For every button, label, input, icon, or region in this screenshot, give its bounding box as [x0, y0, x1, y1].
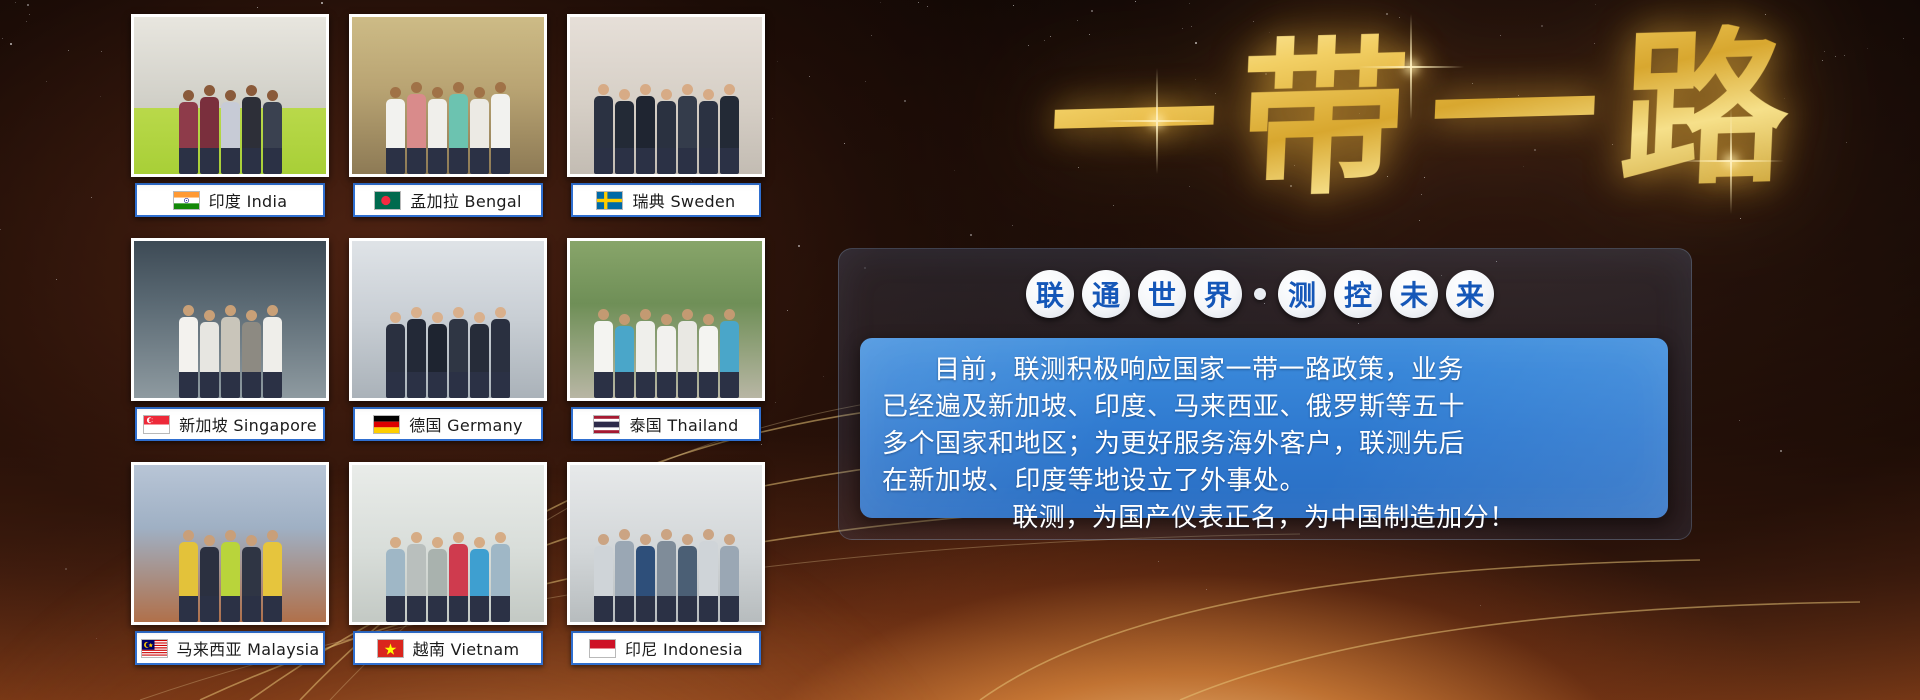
country-caption: 马来西亚 Malaysia [135, 631, 325, 665]
country-photo [567, 462, 765, 625]
country-photo [567, 14, 765, 177]
country-photo [349, 462, 547, 625]
country-label: 泰国 Thailand [629, 412, 738, 436]
flag-bangladesh-icon [374, 191, 401, 210]
country-caption: 瑞典 Sweden [571, 183, 761, 217]
country-label: 印尼 Indonesia [625, 636, 743, 660]
sparkle-center-icon [1410, 66, 1412, 68]
flag-indonesia-icon [589, 639, 616, 658]
sparkle-left-icon [1156, 120, 1158, 122]
country-card-indonesia[interactable]: 印尼 Indonesia [568, 462, 764, 676]
country-label: 新加坡 Singapore [179, 412, 317, 436]
country-photo-grid: 印度 India孟加拉 Bengal瑞典 Sweden新加坡 Singapore… [132, 14, 764, 686]
country-caption: 德国 Germany [353, 407, 543, 441]
slogan-bead-2: 世 [1138, 270, 1186, 318]
country-label: 孟加拉 Bengal [410, 188, 521, 212]
slogan-bead-8: 来 [1446, 270, 1494, 318]
description-line-3: 多个国家和地区；为更好服务海外客户，联测先后 [882, 426, 1646, 463]
country-caption: 越南 Vietnam [353, 631, 543, 665]
calligraphy-title: 一带一路 [1030, 8, 1830, 223]
country-card-germany[interactable]: 德国 Germany [350, 238, 546, 452]
flag-malaysia-icon [141, 639, 168, 658]
country-card-malaysia[interactable]: 马来西亚 Malaysia [132, 462, 328, 676]
sparkle-right-icon [1730, 160, 1732, 162]
description-line-4: 在新加坡、印度等地设立了外事处。 [882, 463, 1646, 500]
slogan-bead-6: 控 [1334, 270, 1382, 318]
flag-india-icon [173, 191, 200, 210]
calligraphy-text: 一带一路 [1046, 22, 1814, 210]
country-caption: 孟加拉 Bengal [353, 183, 543, 217]
flag-germany-icon [373, 415, 400, 434]
slogan-bead-7: 未 [1390, 270, 1438, 318]
description-line-5: 联测，为国产仪表正名，为中国制造加分！ [882, 500, 1646, 537]
banner-stage: 印度 India孟加拉 Bengal瑞典 Sweden新加坡 Singapore… [0, 0, 1920, 700]
country-photo [349, 14, 547, 177]
country-card-bengal[interactable]: 孟加拉 Bengal [350, 14, 546, 228]
right-content: 一带一路 联通世界测控未来 目前，联测积极响应国家一带一路政策，业务 已经遍及新… [1010, 0, 1920, 700]
country-label: 马来西亚 Malaysia [177, 636, 320, 660]
country-card-sweden[interactable]: 瑞典 Sweden [568, 14, 764, 228]
slogan-bead-3: 界 [1194, 270, 1242, 318]
flag-thailand-icon [593, 415, 620, 434]
country-photo [131, 14, 329, 177]
country-card-thailand[interactable]: 泰国 Thailand [568, 238, 764, 452]
country-label: 德国 Germany [409, 412, 523, 436]
country-photo [131, 462, 329, 625]
country-photo [349, 238, 547, 401]
country-label: 印度 India [209, 188, 288, 212]
slogan-bead-1: 通 [1082, 270, 1130, 318]
country-caption: 新加坡 Singapore [135, 407, 325, 441]
country-photo [567, 238, 765, 401]
description-line-1: 目前，联测积极响应国家一带一路政策，业务 [882, 352, 1646, 389]
country-card-singapore[interactable]: 新加坡 Singapore [132, 238, 328, 452]
country-caption: 印度 India [135, 183, 325, 217]
slogan-bead-5: 测 [1278, 270, 1326, 318]
slogan-bead-0: 联 [1026, 270, 1074, 318]
description-line-2: 已经遍及新加坡、印度、马来西亚、俄罗斯等五十 [882, 389, 1646, 426]
slogan-beads: 联通世界测控未来 [860, 264, 1660, 324]
flag-singapore-icon [143, 415, 170, 434]
flag-sweden-icon [596, 191, 623, 210]
country-card-india[interactable]: 印度 India [132, 14, 328, 228]
country-photo [131, 238, 329, 401]
country-card-vietnam[interactable]: 越南 Vietnam [350, 462, 546, 676]
description-box: 目前，联测积极响应国家一带一路政策，业务 已经遍及新加坡、印度、马来西亚、俄罗斯… [860, 338, 1668, 518]
country-caption: 印尼 Indonesia [571, 631, 761, 665]
flag-vietnam-icon [377, 639, 404, 658]
country-label: 越南 Vietnam [413, 636, 520, 660]
slogan-separator-dot [1254, 288, 1266, 300]
country-caption: 泰国 Thailand [571, 407, 761, 441]
country-label: 瑞典 Sweden [632, 188, 735, 212]
